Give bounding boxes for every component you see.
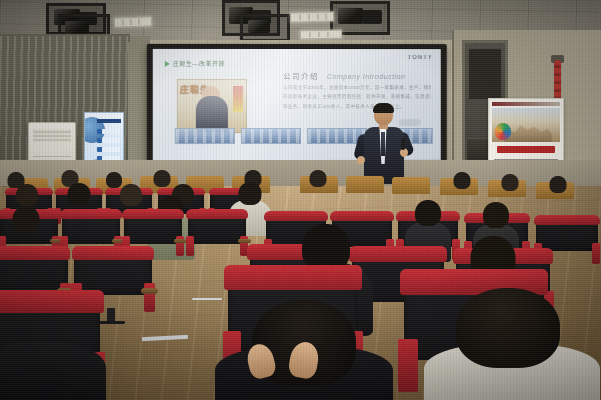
seat-side-panel — [186, 236, 194, 256]
seat-backrest-wood — [346, 176, 384, 193]
person-head — [415, 200, 441, 226]
cityscape-graphic — [504, 122, 552, 142]
seat-leg — [107, 308, 116, 322]
audience-member — [500, 174, 520, 198]
seat-backrest-wood — [392, 177, 430, 194]
person-head — [13, 206, 40, 233]
seat-crest — [0, 246, 70, 260]
seat-side-panel — [592, 243, 601, 264]
seat-crest — [534, 215, 600, 225]
audience-member — [64, 183, 94, 211]
seat-crest — [60, 209, 121, 219]
audience-member — [116, 184, 146, 210]
seat-crest — [0, 290, 104, 313]
foreground-attendee — [214, 300, 394, 400]
banner-title-bar — [97, 119, 121, 123]
banner-row — [97, 138, 120, 143]
foreground-attendee — [0, 324, 106, 400]
person-head — [16, 184, 38, 206]
person-head — [454, 172, 471, 189]
audience-member — [6, 206, 46, 242]
poster-header — [492, 102, 560, 106]
person-head — [310, 170, 327, 187]
seat-armrest — [174, 239, 187, 243]
auditorium-photo: 庄聪生—改革开放 TONTY 公司介绍 Company Introduction… — [0, 0, 601, 400]
seat-armrest — [141, 288, 158, 294]
poster-image — [492, 108, 560, 142]
person-head — [120, 184, 142, 206]
person-head — [456, 288, 560, 368]
auditorium-seat — [188, 212, 246, 256]
presenter-tie — [381, 132, 385, 156]
presenter-hair — [373, 103, 394, 113]
seat-crest — [186, 209, 247, 219]
seat-armrest — [238, 239, 251, 243]
ac-seam — [33, 156, 71, 157]
foreground-attendee — [424, 288, 600, 400]
hot-air-balloon-icon — [495, 123, 511, 140]
person-head — [239, 182, 262, 205]
seat-crest — [72, 246, 155, 260]
audience-member — [548, 176, 568, 200]
audience-member — [308, 170, 328, 194]
person-head — [502, 174, 519, 191]
person-head — [550, 176, 567, 193]
seat-crest — [122, 209, 183, 219]
poster-headline — [497, 146, 555, 153]
banner-row — [97, 147, 120, 152]
presenter — [358, 104, 410, 184]
seat-side-panel — [398, 339, 418, 392]
ac-vent — [33, 129, 71, 143]
door-window — [469, 49, 501, 99]
banner-row — [97, 129, 120, 134]
person-head — [68, 183, 91, 206]
presenter-left-hand — [357, 156, 365, 164]
seat-crest — [264, 211, 328, 221]
seat-crest — [224, 265, 362, 289]
audience-member — [452, 172, 472, 196]
seat-crest — [330, 211, 394, 221]
person-head — [483, 202, 509, 228]
handheld-microphone — [401, 138, 405, 150]
person-body — [0, 342, 106, 400]
